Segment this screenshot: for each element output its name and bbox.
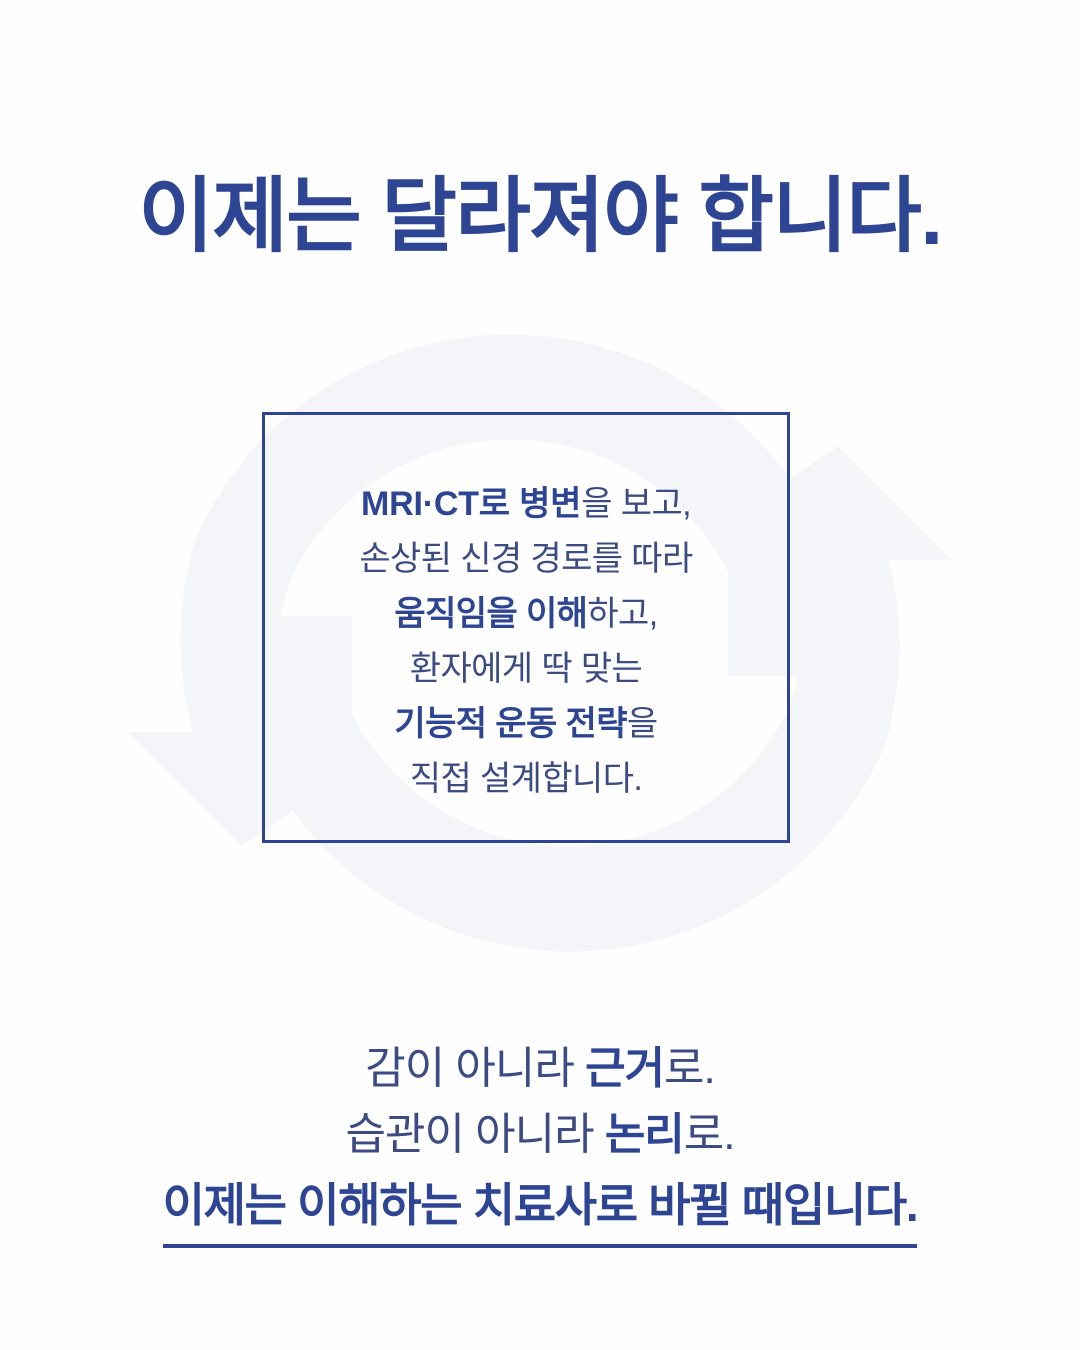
statement-box: MRI·CT로 병변을 보고,손상된 신경 경로를 따라움직임을 이해하고,환자… [262,412,790,843]
plain-text: 로. [684,1110,735,1159]
plain-text: 환자에게 딱 맞는 [410,650,642,688]
statement-line-3: 움직임을 이해하고, [265,587,787,642]
final-line-wrap: 이제는 이해하는 치료사로 바뀔 때입니다. [0,1168,1080,1248]
emphasis-text: MRI·CT로 병변 [361,485,581,523]
emphasis-text: 논리 [605,1110,684,1159]
plain-text: 을 보고, [581,485,691,523]
plain-text: 하고, [587,595,657,633]
plain-text: 을 [627,705,658,743]
emphasis-text: 기능적 운동 전략 [394,705,626,743]
poster-canvas: 이제는 달라져야 합니다. MRI·CT로 병변을 보고,손상된 신경 경로를 … [0,0,1080,1350]
page-headline: 이제는 달라져야 합니다. [0,173,1080,262]
closing-line-2: 습관이 아니라 논리로. [0,1102,1080,1168]
closing-block: 감이 아니라 근거로.습관이 아니라 논리로. 이제는 이해하는 치료사로 바뀔… [0,1036,1080,1248]
emphasis-text: 움직임을 이해 [394,595,587,633]
statement-line-6: 직접 설계합니다. [265,752,787,807]
final-call-to-action: 이제는 이해하는 치료사로 바뀔 때입니다. [163,1172,918,1248]
plain-text: 직접 설계합니다. [410,760,642,798]
emphasis-text: 근거 [585,1044,664,1093]
statement-line-2: 손상된 신경 경로를 따라 [265,532,787,587]
statement-line-5: 기능적 운동 전략을 [265,697,787,752]
plain-text: 손상된 신경 경로를 따라 [359,540,692,578]
statement-line-1: MRI·CT로 병변을 보고, [265,477,787,532]
plain-text: 로. [664,1044,715,1093]
statement-line-4: 환자에게 딱 맞는 [265,642,787,697]
plain-text: 감이 아니라 [365,1044,585,1093]
plain-text: 습관이 아니라 [345,1110,604,1159]
statement-lines: MRI·CT로 병변을 보고,손상된 신경 경로를 따라움직임을 이해하고,환자… [265,477,787,807]
closing-line-1: 감이 아니라 근거로. [0,1036,1080,1102]
closing-lines: 감이 아니라 근거로.습관이 아니라 논리로. [0,1036,1080,1168]
